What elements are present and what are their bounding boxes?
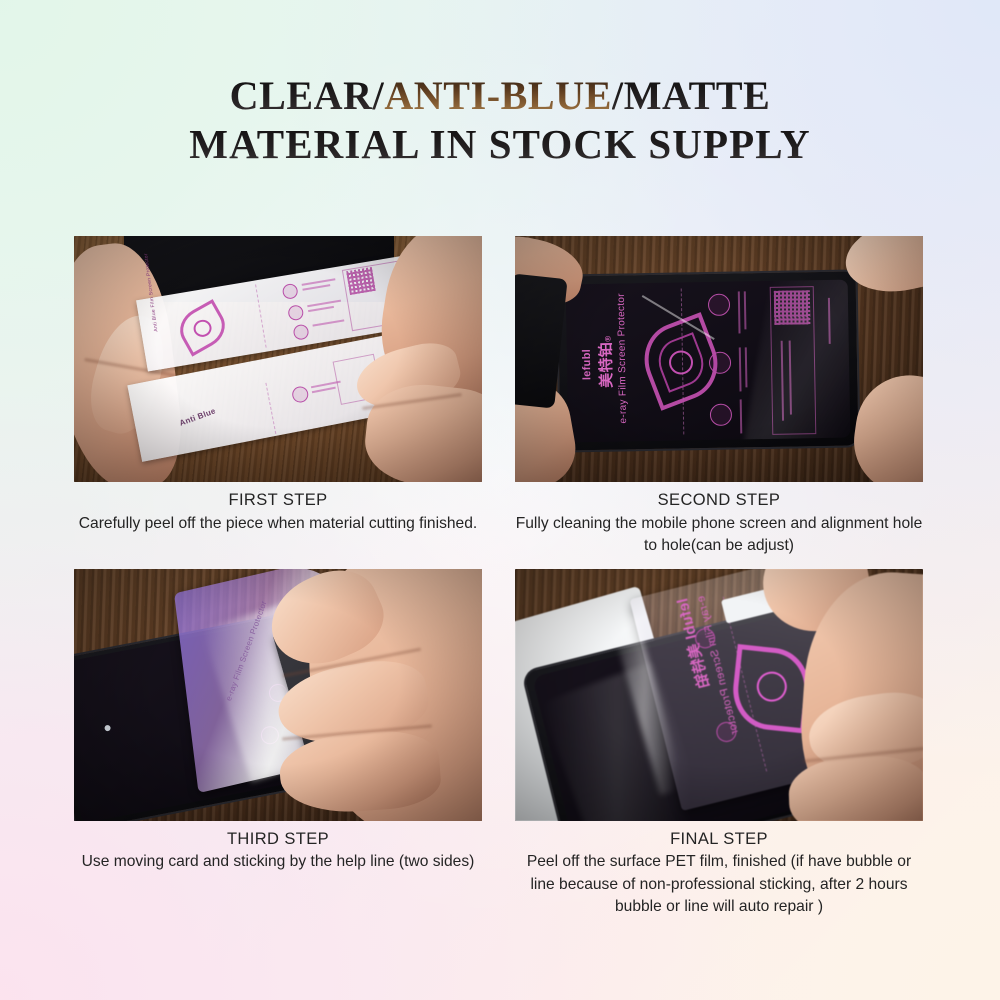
photo-scene-final: lefubl 美特铂 e-ray Film Screen Protector [515,569,923,821]
step-body-third: Use moving card and sticking by the help… [74,851,482,874]
brand-latin-name: lefubl [581,349,594,380]
step-caption-final: FINAL STEP Peel off the surface PET film… [515,821,923,919]
steps-grid: Anti Blue Film Screen Protector [74,236,923,919]
feature-text-line-4 [308,306,334,312]
feature-icon-shield [708,294,730,316]
screen-glare [743,280,850,443]
film-dash-guide-2 [265,383,276,434]
feature-text-line-7 [312,387,336,393]
photo-scene-third: e-ray Film Screen Protector [74,569,482,821]
step-photo-third: e-ray Film Screen Protector [74,569,482,821]
page-title-line-2: MATERIAL IN STOCK SUPPLY [0,120,1000,168]
title-segment-anti-blue: ANTI-BLUE [384,73,612,118]
feature-icon-3 [292,323,309,340]
step-photo-first: Anti Blue Film Screen Protector [74,236,482,482]
step-card-final: lefubl 美特铂 e-ray Film Screen Protector [515,569,923,919]
feature-icon-2 [287,304,304,321]
step-caption-second: SECOND STEP Fully cleaning the mobile ph… [515,482,923,558]
feature-desc-4 [745,347,748,387]
feature-icon-4 [291,385,310,404]
brand-tagline-text: e-ray Film Screen Protector [616,293,629,424]
feature-desc-5 [740,399,743,433]
brand-cn-name-text: 美特铂® [595,336,617,388]
page-title: CLEAR/ANTI-BLUE/MATTE MATERIAL IN STOCK … [0,72,1000,168]
step-title-first: FIRST STEP [74,489,482,513]
step-caption-third: THIRD STEP Use moving card and sticking … [74,821,482,874]
step-body-final: Peel off the surface PET film, finished … [515,851,923,919]
page-root: CLEAR/ANTI-BLUE/MATTE MATERIAL IN STOCK … [0,0,1000,1000]
phone-screen-with-film: lefubl 美特铂® e-ray Film Screen Protector [566,280,851,443]
step-card-first: Anti Blue Film Screen Protector [74,236,482,558]
anti-blue-label: Anti Blue [178,406,217,427]
title-segment-matte: /MATTE [612,73,770,118]
step-title-third: THIRD STEP [74,828,482,852]
photo-scene-second: lefubl 美特铂® e-ray Film Screen Protector [515,236,923,482]
step-photo-final: lefubl 美特铂 e-ray Film Screen Protector [515,569,923,821]
brand-chinese-name: 美特铂 [598,342,616,388]
brand-name-text: lefubl [581,349,594,380]
step-title-final: FINAL STEP [515,828,923,852]
feature-text-line-5 [312,319,344,326]
feature-icon-hammer [709,352,731,374]
step-photo-second: lefubl 美特铂® e-ray Film Screen Protector [515,236,923,482]
step-title-second: SECOND STEP [515,489,923,513]
feature-icon-speaker [710,404,732,426]
feature-text-line-2 [302,284,330,290]
step-card-third: e-ray Film Screen Protector THIRD STEP U… [74,569,482,919]
film-dash-guide-1 [255,284,267,347]
step-body-second: Fully cleaning the mobile phone screen a… [515,513,923,558]
step-body-first: Carefully peel off the piece when materi… [74,513,482,536]
feature-icon-1 [282,283,299,300]
feature-text-line-3 [307,300,341,307]
step-card-second: lefubl 美特铂® e-ray Film Screen Protector [515,236,923,558]
page-title-line-1: CLEAR/ANTI-BLUE/MATTE [0,72,1000,120]
feature-desc-3 [739,347,742,391]
feature-text-line-1 [302,278,336,285]
feature-desc-2 [744,291,747,329]
registered-mark: ® [604,336,613,342]
front-camera-dot [104,724,111,731]
title-segment-clear: CLEAR/ [230,73,385,118]
feature-desc-1 [738,291,741,333]
photo-scene-first: Anti Blue Film Screen Protector [74,236,482,482]
step-caption-first: FIRST STEP Carefully peel off the piece … [74,482,482,535]
